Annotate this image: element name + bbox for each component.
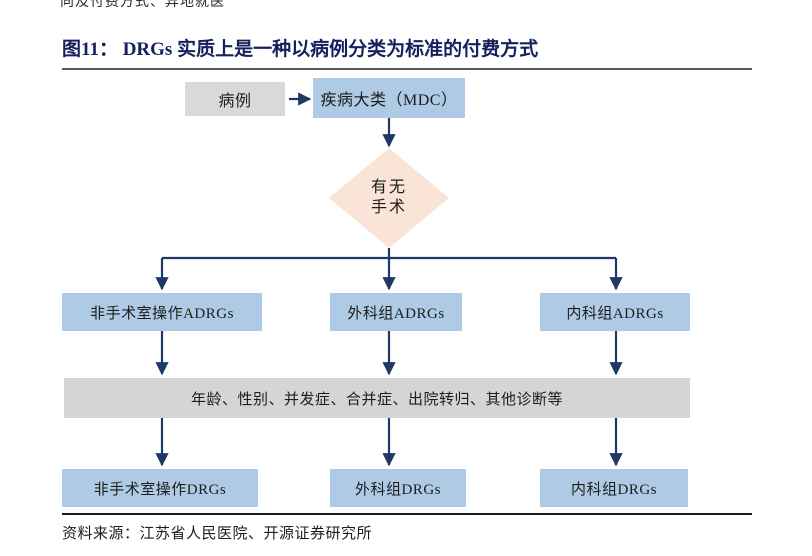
node-case-factors: 年龄、性别、并发症、合并症、出院转归、其他诊断等 [64, 378, 690, 418]
node-drg-medical: 内科组DRGs [540, 469, 688, 507]
node-drg-surgical: 外科组DRGs [330, 469, 466, 507]
node-case: 病例 [185, 82, 285, 116]
node-decision-label: 有无 手术 [329, 148, 449, 248]
flowchart-diagram: 病例 疾病大类（MDC） 有无 手术 非手术室操作ADRGs 外科组ADRGs … [0, 70, 812, 510]
node-adrg-non-operating-room: 非手术室操作ADRGs [62, 293, 262, 331]
node-decision: 有无 手术 [329, 148, 449, 248]
node-drg-non-operating-room: 非手术室操作DRGs [62, 469, 258, 507]
decision-line-2: 手术 [371, 198, 407, 218]
cut-off-body-text: 向及付费方式、异地就医 [60, 0, 225, 11]
figure-title: 图11： DRGs 实质上是一种以病例分类为标准的付费方式 [62, 34, 538, 61]
source-note: 资料来源：江苏省人民医院、开源证券研究所 [62, 522, 372, 543]
connector-lines [0, 70, 812, 510]
node-adrg-surgical: 外科组ADRGs [330, 293, 462, 331]
footer-divider [62, 513, 752, 515]
decision-line-1: 有无 [371, 178, 407, 198]
node-mdc: 疾病大类（MDC） [313, 78, 465, 118]
node-adrg-medical: 内科组ADRGs [540, 293, 690, 331]
